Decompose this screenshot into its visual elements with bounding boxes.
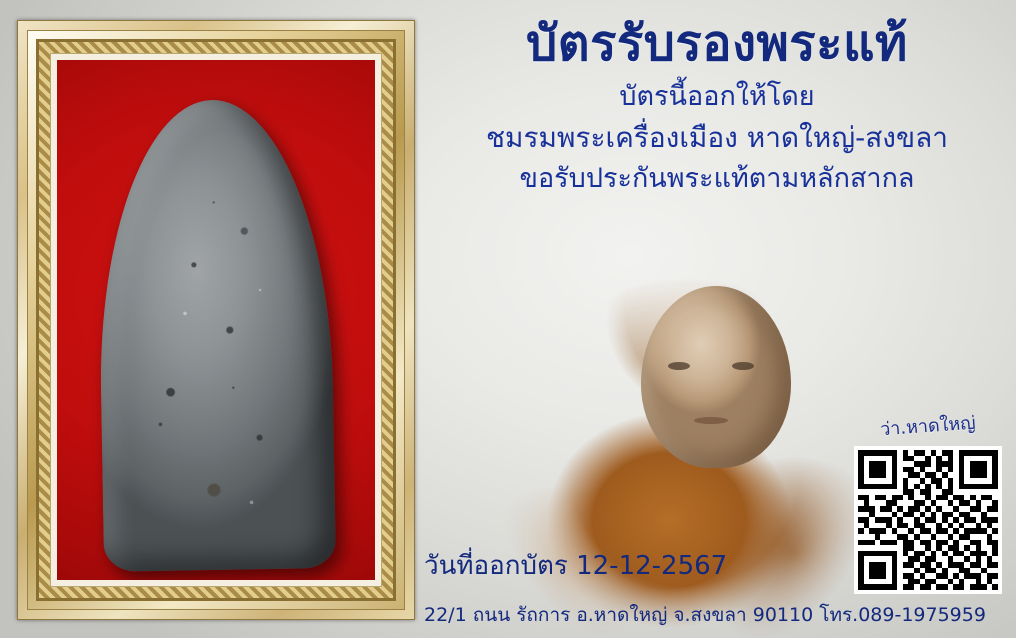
monk-mouth (694, 417, 728, 424)
amulet-photo (57, 60, 375, 580)
photo-mat (50, 53, 382, 587)
qr-modules (858, 450, 998, 590)
monk-eye-left (668, 362, 690, 370)
header-text-block: บัตรรับรองพระแท้ บัตรนี้ออกให้โดย ชมรมพร… (424, 16, 1010, 197)
issue-date: วันที่ออกบัตร 12-12-2567 (424, 545, 727, 586)
page-title: บัตรรับรองพระแท้ (424, 16, 1010, 73)
issuer-name-line: ชมรมพระเครื่องเมือง หาดใหญ่-สงขลา (424, 119, 1010, 157)
photo-frame-bevel (27, 30, 405, 610)
monk-eye-right (732, 362, 754, 370)
guarantee-line: ขอรับประกันพระแท้ตามหลักสากล (424, 161, 1010, 197)
address-line: 22/1 ถนน รัถการ อ.หาดใหญ่ จ.สงขลา 90110 … (424, 600, 1006, 630)
monk-head (641, 286, 791, 468)
qr-code[interactable] (854, 446, 1002, 594)
issuer-prefix-line: บัตรนี้ออกให้โดย (424, 79, 1010, 115)
certificate-card: บัตรรับรองพระแท้ บัตรนี้ออกให้โดย ชมรมพร… (0, 0, 1016, 638)
photo-frame-beading (36, 39, 396, 601)
photo-frame (17, 20, 415, 620)
qr-caption: ว่า.หาดใหญ่ (880, 408, 977, 444)
qr-module (992, 584, 998, 590)
amulet-object (96, 98, 336, 572)
